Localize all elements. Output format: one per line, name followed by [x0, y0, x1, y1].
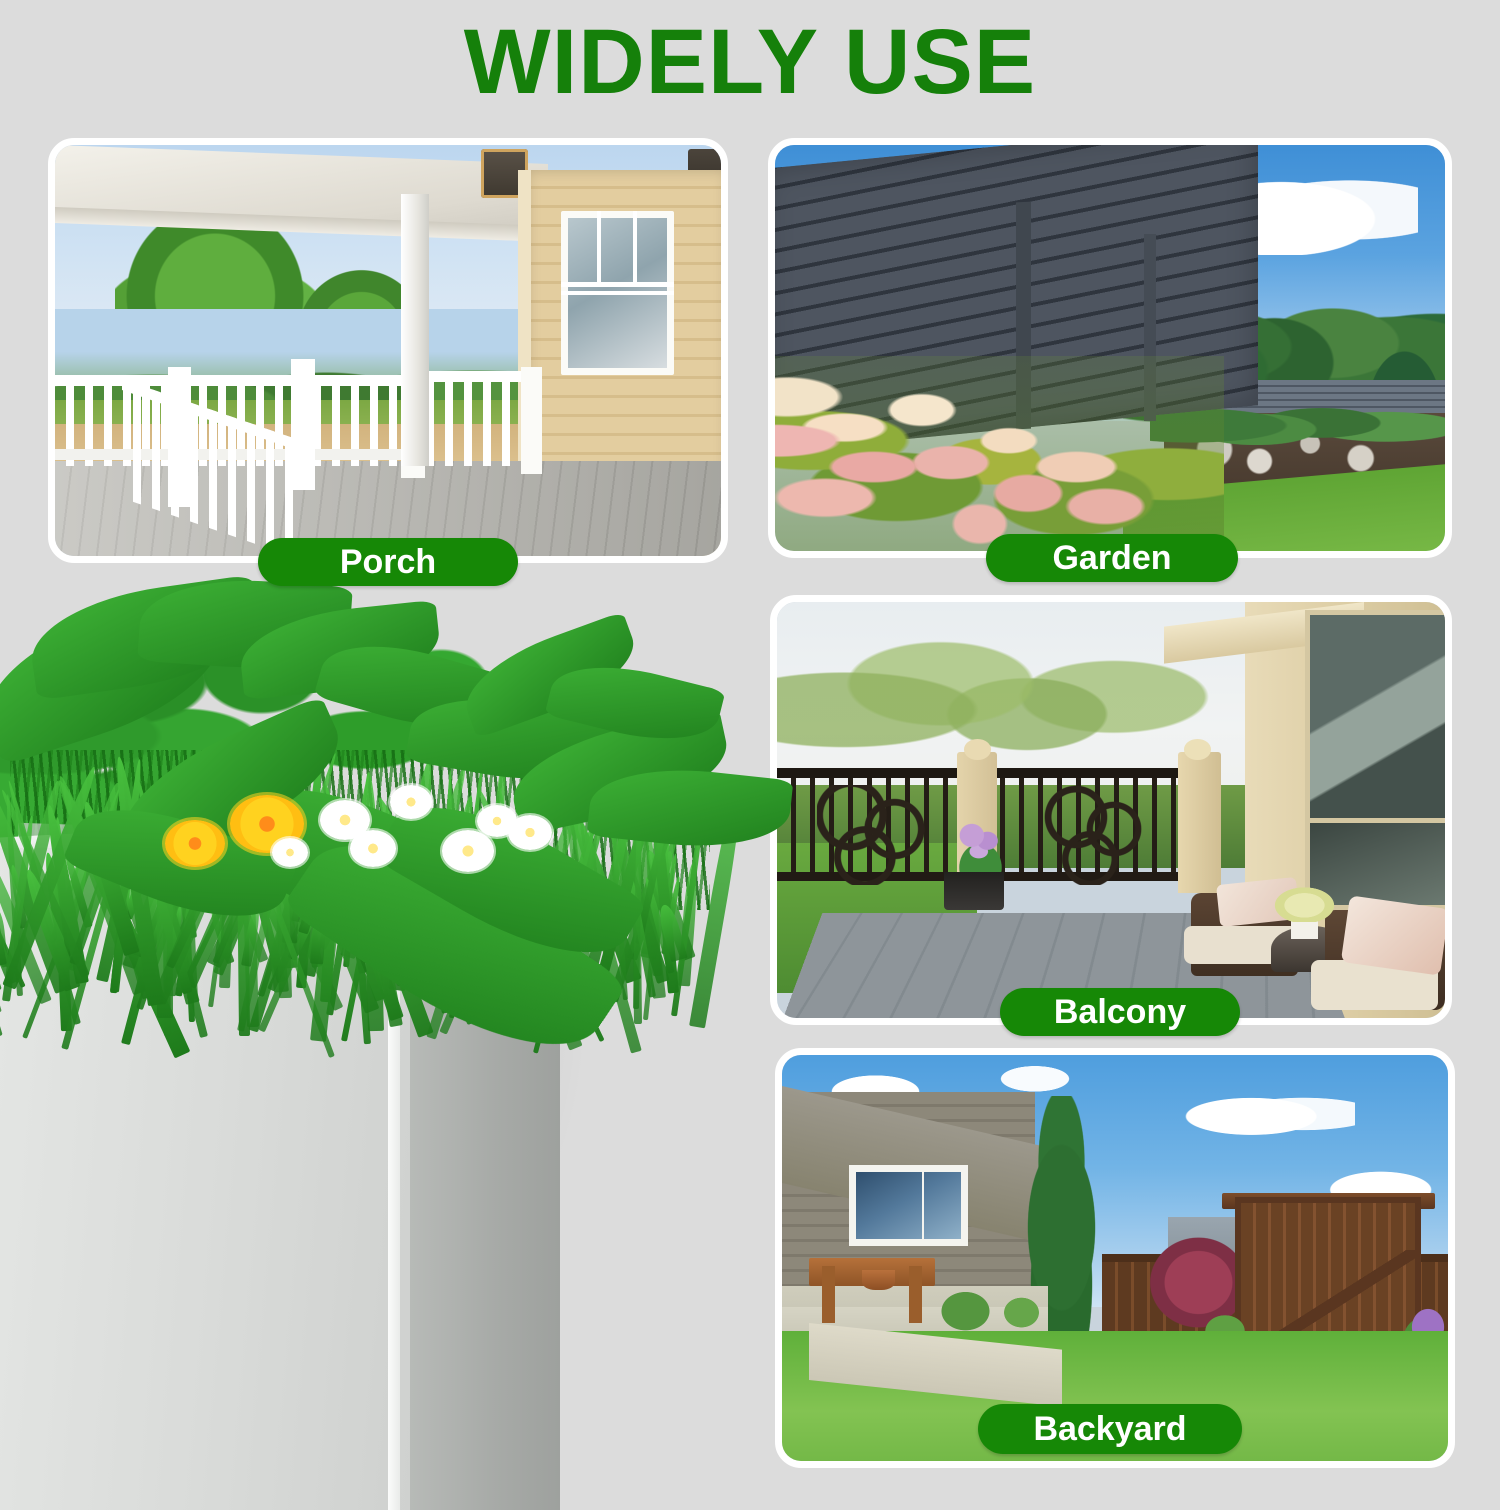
garden-photo — [775, 145, 1445, 551]
porch-photo — [55, 145, 721, 556]
rose-bouquet — [1271, 885, 1338, 922]
hydrangea-blooms — [775, 340, 1231, 551]
cloud — [982, 1059, 1089, 1091]
railing-top-rail — [55, 375, 415, 386]
white-flower — [272, 838, 308, 867]
product-planter-image — [0, 580, 750, 1510]
white-flower — [508, 815, 552, 850]
card-label-balcony: Balcony — [1000, 988, 1240, 1036]
railing-balusters-right — [415, 371, 535, 466]
railing-post — [168, 367, 191, 507]
railing-top-rail — [777, 768, 1218, 777]
scrollwork-ornament — [1044, 785, 1144, 885]
use-case-card-porch[interactable] — [48, 138, 728, 563]
house-window — [849, 1165, 969, 1246]
cloud — [1182, 1087, 1355, 1136]
card-label-garden: Garden — [986, 534, 1238, 582]
backyard-photo — [782, 1055, 1448, 1461]
terracotta-pot — [862, 1270, 895, 1290]
white-flower — [442, 830, 494, 872]
white-flower — [390, 785, 432, 819]
black-planter-box — [944, 872, 1004, 909]
balcony-photo — [777, 602, 1445, 1018]
scrollwork-ornament — [817, 785, 931, 885]
use-case-card-balcony[interactable] — [770, 595, 1452, 1025]
card-label-backyard: Backyard — [978, 1404, 1242, 1454]
window-divider — [922, 1165, 924, 1246]
railing-post — [521, 367, 542, 474]
white-flower — [350, 830, 396, 867]
card-label-porch: Porch — [258, 538, 518, 586]
porch-column — [401, 194, 429, 465]
railing-top-rail-right — [415, 371, 535, 382]
window-muntins — [561, 211, 674, 375]
bench-leg — [822, 1266, 835, 1323]
railing-post — [291, 359, 315, 491]
floral-pillow — [1341, 895, 1445, 975]
stone-pillar — [1178, 752, 1221, 893]
yellow-flower — [165, 820, 225, 867]
round-shrub — [995, 1290, 1048, 1331]
bench-leg — [909, 1266, 922, 1323]
round-shrub — [929, 1282, 1002, 1335]
page-title: WIDELY USE — [0, 14, 1500, 111]
use-case-card-garden[interactable] — [768, 138, 1452, 558]
pillar-finial — [964, 739, 991, 760]
